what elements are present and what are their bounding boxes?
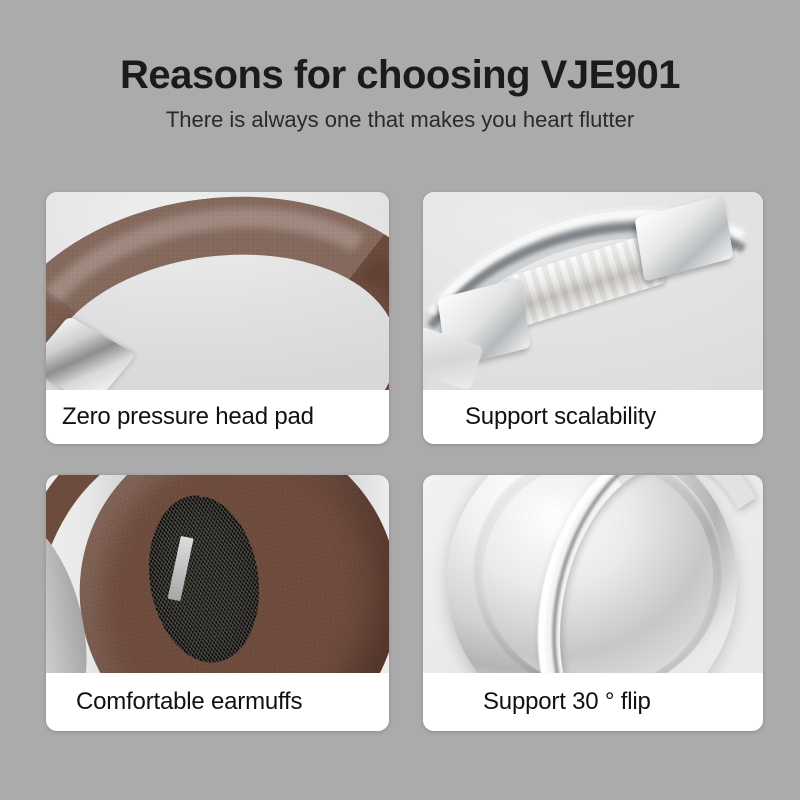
page-header: Reasons for choosing VJE901 There is alw… [0,0,800,132]
page-subtitle: There is always one that makes you heart… [0,96,800,132]
feature-caption-head-pad: Zero pressure head pad [46,390,389,444]
feature-card-earmuffs[interactable]: Comfortable earmuffs [46,475,389,731]
feature-caption-flip: Support 30 ° flip [423,673,763,731]
earcup-flip-photo [423,475,763,673]
feature-card-scalability[interactable]: Support scalability [423,192,763,444]
slider-extension-photo [423,192,763,390]
feature-caption-earmuffs: Comfortable earmuffs [46,673,389,731]
feature-grid: Zero pressure head pad Support scalabili… [46,192,763,731]
feature-card-head-pad[interactable]: Zero pressure head pad [46,192,389,444]
feature-card-flip[interactable]: Support 30 ° flip [423,475,763,731]
earmuff-cushion-photo [46,475,389,673]
page-title: Reasons for choosing VJE901 [0,0,800,96]
headband-leather-photo [46,192,389,390]
feature-caption-scalability: Support scalability [423,390,763,444]
